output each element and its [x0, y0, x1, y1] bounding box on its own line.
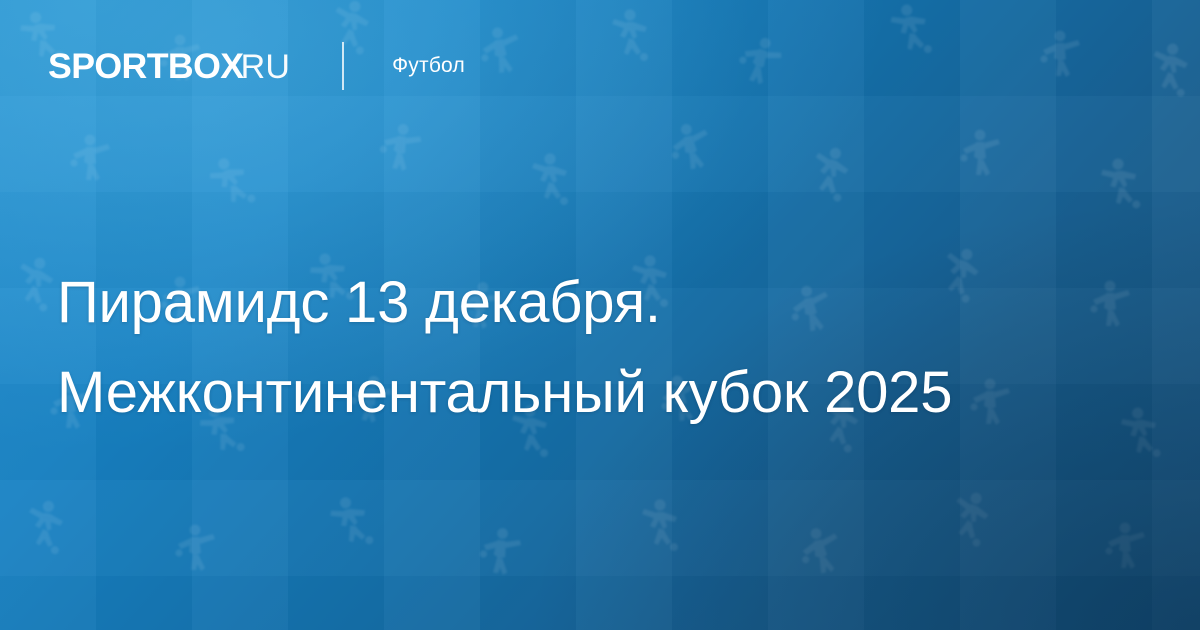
page-title: Пирамидс 13 декабря. Межконтинентальный …	[57, 258, 1167, 438]
logo-wordmark: SPORTBOX	[48, 49, 243, 84]
share-card: SPORTBOX RU Футбол Пирамидс 13 декабря. …	[0, 0, 1200, 630]
page-title-line-1: Пирамидс 13 декабря.	[57, 258, 1167, 348]
page-title-line-2: Межконтинентальный кубок 2025	[57, 348, 1167, 438]
logo-tld: RU	[241, 50, 291, 84]
section-label-football[interactable]: Футбол	[392, 54, 465, 78]
site-header: SPORTBOX RU Футбол	[48, 42, 465, 90]
sportbox-logo[interactable]: SPORTBOX RU	[48, 49, 290, 84]
header-divider	[342, 42, 344, 90]
